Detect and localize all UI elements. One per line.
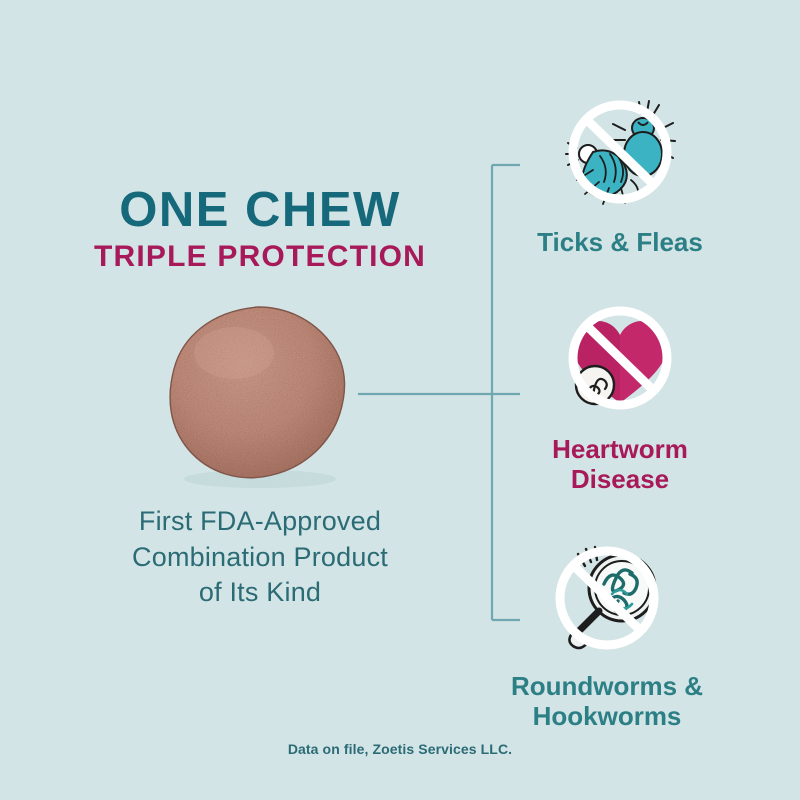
feature-label: Heartworm Disease xyxy=(490,434,750,495)
feature-label: Roundworms & Hookworms xyxy=(477,671,737,732)
page-subtitle: TRIPLE PROTECTION xyxy=(0,241,520,273)
product-claim-line2: Combination Product xyxy=(0,540,520,576)
chew-tablet-svg xyxy=(160,303,360,488)
no-heartworm-icon xyxy=(555,303,685,428)
product-claim-line1: First FDA-Approved xyxy=(0,504,520,540)
feature-label: Ticks & Fleas xyxy=(490,227,750,257)
feature-label-line1: Heartworm xyxy=(490,434,750,464)
feature-label-line2: Hookworms xyxy=(477,701,737,731)
no-roundworms-hookworms-icon xyxy=(542,540,672,665)
page-title: ONE CHEW xyxy=(0,186,520,236)
product-claim-line3: of Its Kind xyxy=(0,575,520,611)
feature-ticks-fleas: Ticks & Fleas xyxy=(490,96,750,257)
chew-tablet-image xyxy=(160,303,360,488)
footnote-text: Data on file, Zoetis Services LLC. xyxy=(0,741,800,757)
infographic-canvas: ONE CHEW TRIPLE PROTECTION xyxy=(0,0,800,800)
feature-label-line1: Ticks & Fleas xyxy=(537,227,703,257)
no-ticks-fleas-icon xyxy=(555,96,685,221)
feature-label-line1: Roundworms & xyxy=(477,671,737,701)
feature-roundworms-hookworms: Roundworms & Hookworms xyxy=(477,540,737,732)
product-claim: First FDA-Approved Combination Product o… xyxy=(0,504,520,611)
feature-label-line2: Disease xyxy=(490,464,750,494)
feature-heartworm-disease: Heartworm Disease xyxy=(490,303,750,495)
